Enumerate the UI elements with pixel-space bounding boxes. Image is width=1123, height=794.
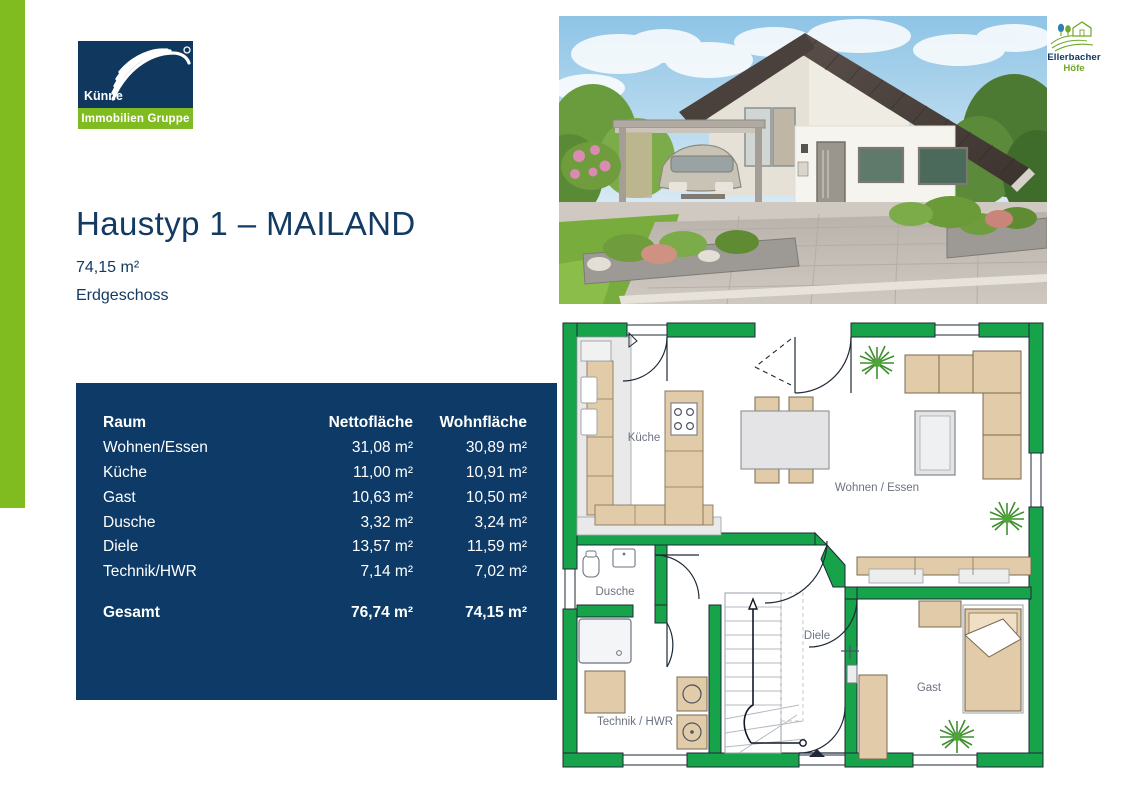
farmhouse-icon: [1049, 20, 1099, 52]
table-row: Gast 10,63 m² 10,50 m²: [103, 485, 527, 510]
kuenne-logo-navy-block: Künne: [78, 41, 193, 108]
row-room-name: Dusche: [103, 510, 293, 535]
floor-level-subtitle: Erdgeschoss: [76, 287, 169, 305]
floor-plan: Küche: [559, 319, 1047, 771]
kuenne-logo: Künne Immobilien Gruppe: [78, 41, 193, 129]
table-spacer-row: [103, 584, 527, 600]
row-living-area: 11,59 m²: [413, 535, 527, 560]
room-label-gast: Gast: [917, 682, 942, 694]
room-label-dusche: Dusche: [596, 586, 635, 598]
left-accent-bar: [0, 0, 25, 508]
table-row: Wohnen/Essen 31,08 m² 30,89 m²: [103, 436, 527, 461]
total-net-area: 76,74 m²: [293, 600, 413, 625]
kuenne-logo-tagline-bar: Immobilien Gruppe: [78, 108, 193, 129]
house-exterior-photo: [559, 16, 1047, 304]
total-label: Gesamt: [103, 600, 293, 625]
column-header-net: Nettofläche: [293, 411, 413, 436]
row-room-name: Wohnen/Essen: [103, 436, 293, 461]
table-row: Dusche 3,32 m² 3,24 m²: [103, 510, 527, 535]
total-area-subtitle: 74,15 m²: [76, 259, 139, 277]
row-room-name: Küche: [103, 461, 293, 486]
row-living-area: 10,91 m²: [413, 461, 527, 486]
room-label-diele: Diele: [804, 630, 830, 642]
column-header-room: Raum: [103, 411, 293, 436]
areas-panel: Raum Nettofläche Wohnfläche Wohnen/Essen…: [76, 383, 557, 700]
table-header-row: Raum Nettofläche Wohnfläche: [103, 411, 527, 436]
table-row: Diele 13,57 m² 11,59 m²: [103, 535, 527, 560]
row-living-area: 10,50 m²: [413, 485, 527, 510]
row-room-name: Diele: [103, 535, 293, 560]
table-row: Technik/HWR 7,14 m² 7,02 m²: [103, 560, 527, 585]
table-total-row: Gesamt 76,74 m² 74,15 m²: [103, 600, 527, 625]
room-label-wohnen-essen: Wohnen / Essen: [835, 482, 919, 494]
page-title: Haustyp 1 – MAILAND: [76, 205, 416, 243]
row-net-area: 3,32 m²: [293, 510, 413, 535]
brochure-page: Künne Immobilien Gruppe Ellerbacher Höfe: [0, 0, 1123, 794]
row-living-area: 3,24 m²: [413, 510, 527, 535]
kuenne-logo-name: Künne: [84, 89, 123, 103]
floor-plan-drawing: Küche: [559, 319, 1047, 771]
column-header-living: Wohnfläche: [413, 411, 527, 436]
room-label-technik-hwr: Technik / HWR: [597, 716, 673, 728]
table-row: Küche 11,00 m² 10,91 m²: [103, 461, 527, 486]
row-net-area: 7,14 m²: [293, 560, 413, 585]
row-net-area: 11,00 m²: [293, 461, 413, 486]
ellerbacher-hoefe-logo: Ellerbacher Höfe: [1040, 20, 1108, 78]
row-room-name: Technik/HWR: [103, 560, 293, 585]
row-living-area: 30,89 m²: [413, 436, 527, 461]
row-net-area: 13,57 m²: [293, 535, 413, 560]
row-living-area: 7,02 m²: [413, 560, 527, 585]
row-net-area: 10,63 m²: [293, 485, 413, 510]
areas-table: Raum Nettofläche Wohnfläche Wohnen/Essen…: [103, 411, 527, 625]
kuenne-logo-tagline: Immobilien Gruppe: [81, 113, 189, 125]
house-photo-illustration: [559, 16, 1047, 304]
room-label-kueche: Küche: [628, 432, 661, 444]
total-living-area: 74,15 m²: [413, 600, 527, 625]
row-room-name: Gast: [103, 485, 293, 510]
row-net-area: 31,08 m²: [293, 436, 413, 461]
ellerbacher-logo-line1: Ellerbacher: [1040, 52, 1108, 63]
ellerbacher-logo-line2: Höfe: [1040, 63, 1108, 74]
